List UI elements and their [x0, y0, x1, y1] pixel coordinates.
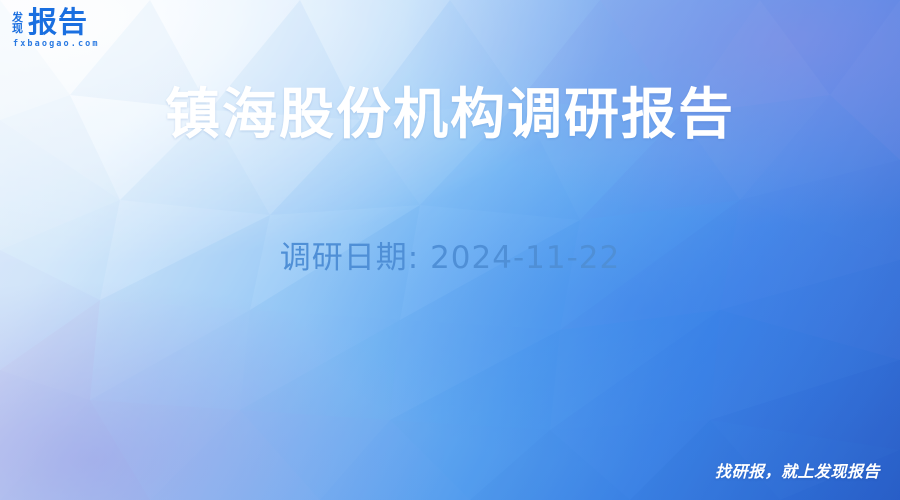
logo-wordmark: 报告 — [28, 8, 88, 37]
footer-tagline: 找研报，就上发现报告 — [715, 458, 880, 482]
page-title: 镇海股份机构调研报告 — [0, 84, 900, 146]
title-block: 镇海股份机构调研报告 — [0, 84, 900, 146]
site-logo[interactable]: 发 现 报告 fxbaogao.com — [12, 8, 162, 49]
logo-char-xian: 现 — [12, 23, 23, 34]
logo-stacked-characters: 发 现 — [12, 12, 23, 37]
survey-date-subtitle: 调研日期: 2024-11-22 — [0, 232, 900, 277]
logo-wordmark-row: 发 现 报告 — [12, 8, 162, 37]
logo-url: fxbaogao.com — [13, 39, 162, 49]
report-cover-slide: 发 现 报告 fxbaogao.com 镇海股份机构调研报告 调研日期: 202… — [0, 0, 900, 500]
